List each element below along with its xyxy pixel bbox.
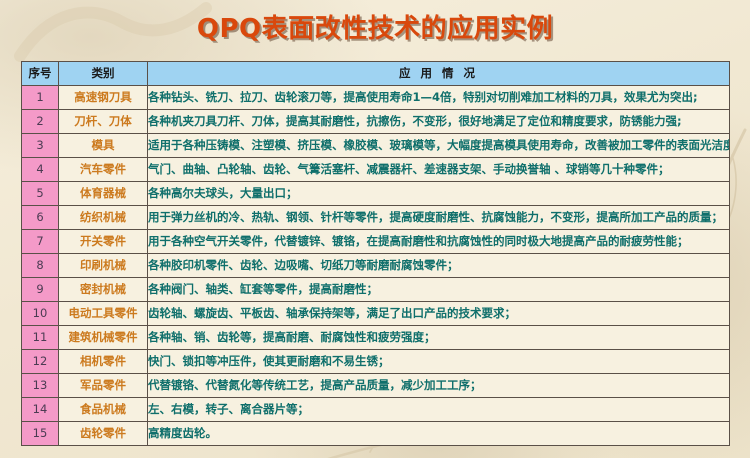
table-row: 15齿轮零件高精度齿轮。 xyxy=(22,422,730,446)
row-description-cell: 用于各种空气开关零件，代替镀锌、镀铬，在提高耐磨性和抗腐蚀性的同时极大地提高产品… xyxy=(148,230,730,254)
row-description-cell: 各种轴、销、齿轮等，提高耐磨、耐腐蚀性和疲劳强度； xyxy=(148,326,730,350)
column-header-category: 类别 xyxy=(59,62,148,86)
table-row: 9密封机械各种阀门、轴类、缸套等零件，提高耐磨性； xyxy=(22,278,730,302)
row-category-cell: 纺织机械 xyxy=(59,206,148,230)
row-category-cell: 相机零件 xyxy=(59,350,148,374)
row-description-cell: 各种高尔夫球头，大量出口； xyxy=(148,182,730,206)
row-number-cell: 5 xyxy=(22,182,59,206)
row-category-cell: 建筑机械零件 xyxy=(59,326,148,350)
row-category-cell: 电动工具零件 xyxy=(59,302,148,326)
table-header: 序号 类别 应 用 情 况 xyxy=(22,62,730,86)
row-category-cell: 模具 xyxy=(59,134,148,158)
row-number-cell: 2 xyxy=(22,110,59,134)
table-row: 5体育器械各种高尔夫球头，大量出口； xyxy=(22,182,730,206)
row-number-cell: 8 xyxy=(22,254,59,278)
table-row: 13军品零件代替镀铬、代替氮化等传统工艺，提高产品质量，减少加工工序； xyxy=(22,374,730,398)
table-row: 8印刷机械各种胶印机零件、齿轮、边吸嘴、切纸刀等耐磨耐腐蚀零件； xyxy=(22,254,730,278)
table-row: 3模具适用于各种压铸模、注塑模、挤压模、橡胶模、玻璃模等，大幅度提高模具使用寿命… xyxy=(22,134,730,158)
row-category-cell: 密封机械 xyxy=(59,278,148,302)
row-number-cell: 4 xyxy=(22,158,59,182)
table-row: 6纺织机械用于弹力丝机的冷、热轨、钢领、针杆等零件，提高硬度耐磨性、抗腐蚀能力，… xyxy=(22,206,730,230)
row-category-cell: 体育器械 xyxy=(59,182,148,206)
column-header-application: 应 用 情 况 xyxy=(148,62,730,86)
row-description-cell: 各种阀门、轴类、缸套等零件，提高耐磨性； xyxy=(148,278,730,302)
row-number-cell: 12 xyxy=(22,350,59,374)
row-description-cell: 各种机夹刀具刀杆、刀体，提高其耐磨性，抗擦伤，不变形，很好地满足了定位和精度要求… xyxy=(148,110,730,134)
row-number-cell: 7 xyxy=(22,230,59,254)
row-description-cell: 适用于各种压铸模、注塑模、挤压模、橡胶模、玻璃模等，大幅度提高模具使用寿命，改善… xyxy=(148,134,730,158)
row-category-cell: 印刷机械 xyxy=(59,254,148,278)
row-number-cell: 9 xyxy=(22,278,59,302)
page-title: QPQ表面改性技术的应用实例 xyxy=(197,8,553,45)
row-description-cell: 左、右模，转子、离合器片等； xyxy=(148,398,730,422)
row-number-cell: 1 xyxy=(22,86,59,110)
row-number-cell: 3 xyxy=(22,134,59,158)
slide-canvas: QPQ表面改性技术的应用实例 序号 类别 应 用 情 况 1高速钢刀具各种钻头、… xyxy=(0,0,750,458)
row-description-cell: 高精度齿轮。 xyxy=(148,422,730,446)
row-description-cell: 各种胶印机零件、齿轮、边吸嘴、切纸刀等耐磨耐腐蚀零件； xyxy=(148,254,730,278)
table-row: 4汽车零件气门、曲轴、凸轮轴、齿轮、气篝活塞杆、减震器杆、差速器支架、手动换誉轴… xyxy=(22,158,730,182)
row-description-cell: 代替镀铬、代替氮化等传统工艺，提高产品质量，减少加工工序； xyxy=(148,374,730,398)
row-description-cell: 齿轮轴、螺旋齿、平板齿、轴承保持架等，满足了出口产品的技术要求； xyxy=(148,302,730,326)
table-row: 14食品机械左、右模，转子、离合器片等； xyxy=(22,398,730,422)
title-bar: QPQ表面改性技术的应用实例 xyxy=(0,8,750,45)
row-number-cell: 10 xyxy=(22,302,59,326)
row-description-cell: 气门、曲轴、凸轮轴、齿轮、气篝活塞杆、减震器杆、差速器支架、手动换誉轴 、球销等… xyxy=(148,158,730,182)
row-number-cell: 14 xyxy=(22,398,59,422)
application-examples-table: 序号 类别 应 用 情 况 1高速钢刀具各种钻头、铣刀、拉刀、齿轮滚刀等，提高使… xyxy=(21,61,730,446)
table-header-row: 序号 类别 应 用 情 况 xyxy=(22,62,730,86)
row-category-cell: 汽车零件 xyxy=(59,158,148,182)
table-body: 1高速钢刀具各种钻头、铣刀、拉刀、齿轮滚刀等，提高使用寿命1—4倍，特别对切削难… xyxy=(22,86,730,446)
table-row: 7开关零件用于各种空气开关零件，代替镀锌、镀铬，在提高耐磨性和抗腐蚀性的同时极大… xyxy=(22,230,730,254)
row-category-cell: 齿轮零件 xyxy=(59,422,148,446)
column-header-number: 序号 xyxy=(22,62,59,86)
row-category-cell: 食品机械 xyxy=(59,398,148,422)
row-description-cell: 各种钻头、铣刀、拉刀、齿轮滚刀等，提高使用寿命1—4倍，特别对切削难加工材料的刀… xyxy=(148,86,730,110)
row-category-cell: 军品零件 xyxy=(59,374,148,398)
row-category-cell: 高速钢刀具 xyxy=(59,86,148,110)
row-number-cell: 13 xyxy=(22,374,59,398)
table-row: 11建筑机械零件各种轴、销、齿轮等，提高耐磨、耐腐蚀性和疲劳强度； xyxy=(22,326,730,350)
table-row: 1高速钢刀具各种钻头、铣刀、拉刀、齿轮滚刀等，提高使用寿命1—4倍，特别对切削难… xyxy=(22,86,730,110)
row-category-cell: 刀杆、刀体 xyxy=(59,110,148,134)
table-row: 12相机零件快门、锁扣等冲压件，使其更耐磨和不易生锈； xyxy=(22,350,730,374)
row-number-cell: 6 xyxy=(22,206,59,230)
row-description-cell: 快门、锁扣等冲压件，使其更耐磨和不易生锈； xyxy=(148,350,730,374)
row-category-cell: 开关零件 xyxy=(59,230,148,254)
table-row: 2刀杆、刀体各种机夹刀具刀杆、刀体，提高其耐磨性，抗擦伤，不变形，很好地满足了定… xyxy=(22,110,730,134)
row-number-cell: 15 xyxy=(22,422,59,446)
table-row: 10电动工具零件齿轮轴、螺旋齿、平板齿、轴承保持架等，满足了出口产品的技术要求； xyxy=(22,302,730,326)
application-examples-table-container: 序号 类别 应 用 情 况 1高速钢刀具各种钻头、铣刀、拉刀、齿轮滚刀等，提高使… xyxy=(21,61,729,446)
row-description-cell: 用于弹力丝机的冷、热轨、钢领、针杆等零件，提高硬度耐磨性、抗腐蚀能力，不变形，提… xyxy=(148,206,730,230)
row-number-cell: 11 xyxy=(22,326,59,350)
